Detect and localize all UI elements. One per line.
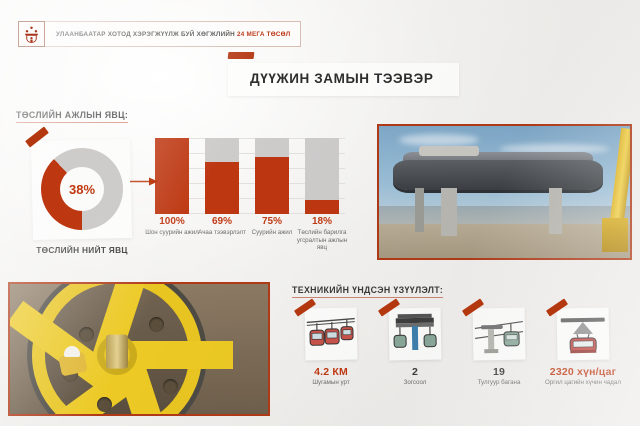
progress-bar-chart: 100%Шон суурийн ажил69%Ачаа тээвэрлэлт75… [155,138,345,214]
page-title: ДҮҮЖИН ЗАМЫН ТЭЭВЭР [250,71,433,86]
header-title-text: УЛААНБААТАР ХОТОД ХЭРЭГЖҮҮЛЖ БУЙ ХӨГЖЛИЙ… [56,31,290,38]
bar-label-group: 18%Төслийн барилга угсралтын ажлын явц [291,216,353,252]
section-heading-technical: ТЕХНИКИЙН ҮНДСЭН ҮЗҮҮЛЭЛТ: [292,285,443,298]
arrow-right-icon [130,177,158,186]
spec-value: 4.2 КМ [292,366,370,378]
photo-worker-helmet [64,346,80,357]
header-ribbon: УЛААНБААТАР ХОТОД ХЭРЭГЖҮҮЛЖ БУЙ ХӨГЖЛИЙ… [18,21,301,47]
photo-station-roof [419,146,479,156]
spec-description: Оргил цагийн хүчин чадал [544,379,622,387]
header-text-bar: УЛААНБААТАР ХОТОД ХЭРЭГЖҮҮЛЖ БУЙ ХӨГЖЛИЙ… [45,21,301,47]
bar-fill [205,162,239,214]
ulaanbaatar-city-emblem-icon [18,21,45,47]
bar-column: 18%Төслийн барилга угсралтын ажлын явц [305,138,339,214]
tech-spec-item: 2320 хүн/цагОргил цагийн хүчин чадал [544,308,622,387]
cable-tower-icon [473,308,526,361]
gondola-cabins-icon [305,308,358,361]
header-title-accent: 24 МЕГА ТӨСӨЛ [237,31,291,38]
yellow-sheave-wheel-worker-photo [8,282,270,416]
photo-station-pillar [549,188,562,234]
photo-station-pillar [415,188,424,232]
title-panel: ДҮҮЖИН ЗАМЫН ТЭЭВЭР [228,63,459,96]
bar-column: 100%Шон суурийн ажил [155,138,189,214]
spec-value: 2 [376,366,454,378]
tech-spec-item: 4.2 КМШугамын урт [292,308,370,387]
cable-station-icon [389,308,442,361]
donut-caption: ТӨСЛИЙН НИЙТ ЯВЦ [24,245,140,255]
bar-fill [155,138,189,214]
spec-description: Тулгуур багана [460,379,538,387]
large-cabin-icon [557,308,610,361]
spec-description: Зогсоол [376,379,454,387]
tech-spec-item: 2Зогсоол [376,308,454,387]
bar-column: 69%Ачаа тээвэрлэлт [205,138,239,214]
overall-progress-donut-chart: 38% [41,148,123,230]
bar-column: 75%Суурийн ажил [255,138,289,214]
photo-yellow-crane [590,126,630,260]
section-heading-progress: ТӨСЛИЙН АЖЛЫН ЯВЦ: [16,110,128,123]
title-accent-tab-icon [228,52,255,59]
spec-description: Шугамын урт [292,379,370,387]
donut-value-label: 38% [69,182,95,197]
photo-station-deck [393,160,603,190]
photo-station-pillar [441,188,457,236]
bar-category-label: Төслийн барилга угсралтын ажлын явц [291,229,353,252]
main-title-block: ДҮҮЖИН ЗАМЫН ТЭЭВЭР [228,52,459,96]
bar-value-label: 18% [291,216,353,228]
bar-fill [305,200,339,214]
spec-value: 19 [460,366,538,378]
donut-center: 38% [60,167,104,211]
header-title-main: УЛААНБААТАР ХОТОД ХЭРЭГЖҮҮЛЖ БУЙ ХӨГЖЛИЙ… [56,31,237,38]
tech-spec-item: 19Тулгуур багана [460,308,538,387]
photo-sheave-ring [32,282,202,416]
cable-car-station-construction-photo [377,124,632,260]
bar-fill [255,157,289,214]
spec-value: 2320 хүн/цаг [544,366,622,378]
infographic-canvas: УЛААНБААТАР ХОТОД ХЭРЭГЖҮҮЛЖ БУЙ ХӨГЖЛИЙ… [0,0,640,426]
